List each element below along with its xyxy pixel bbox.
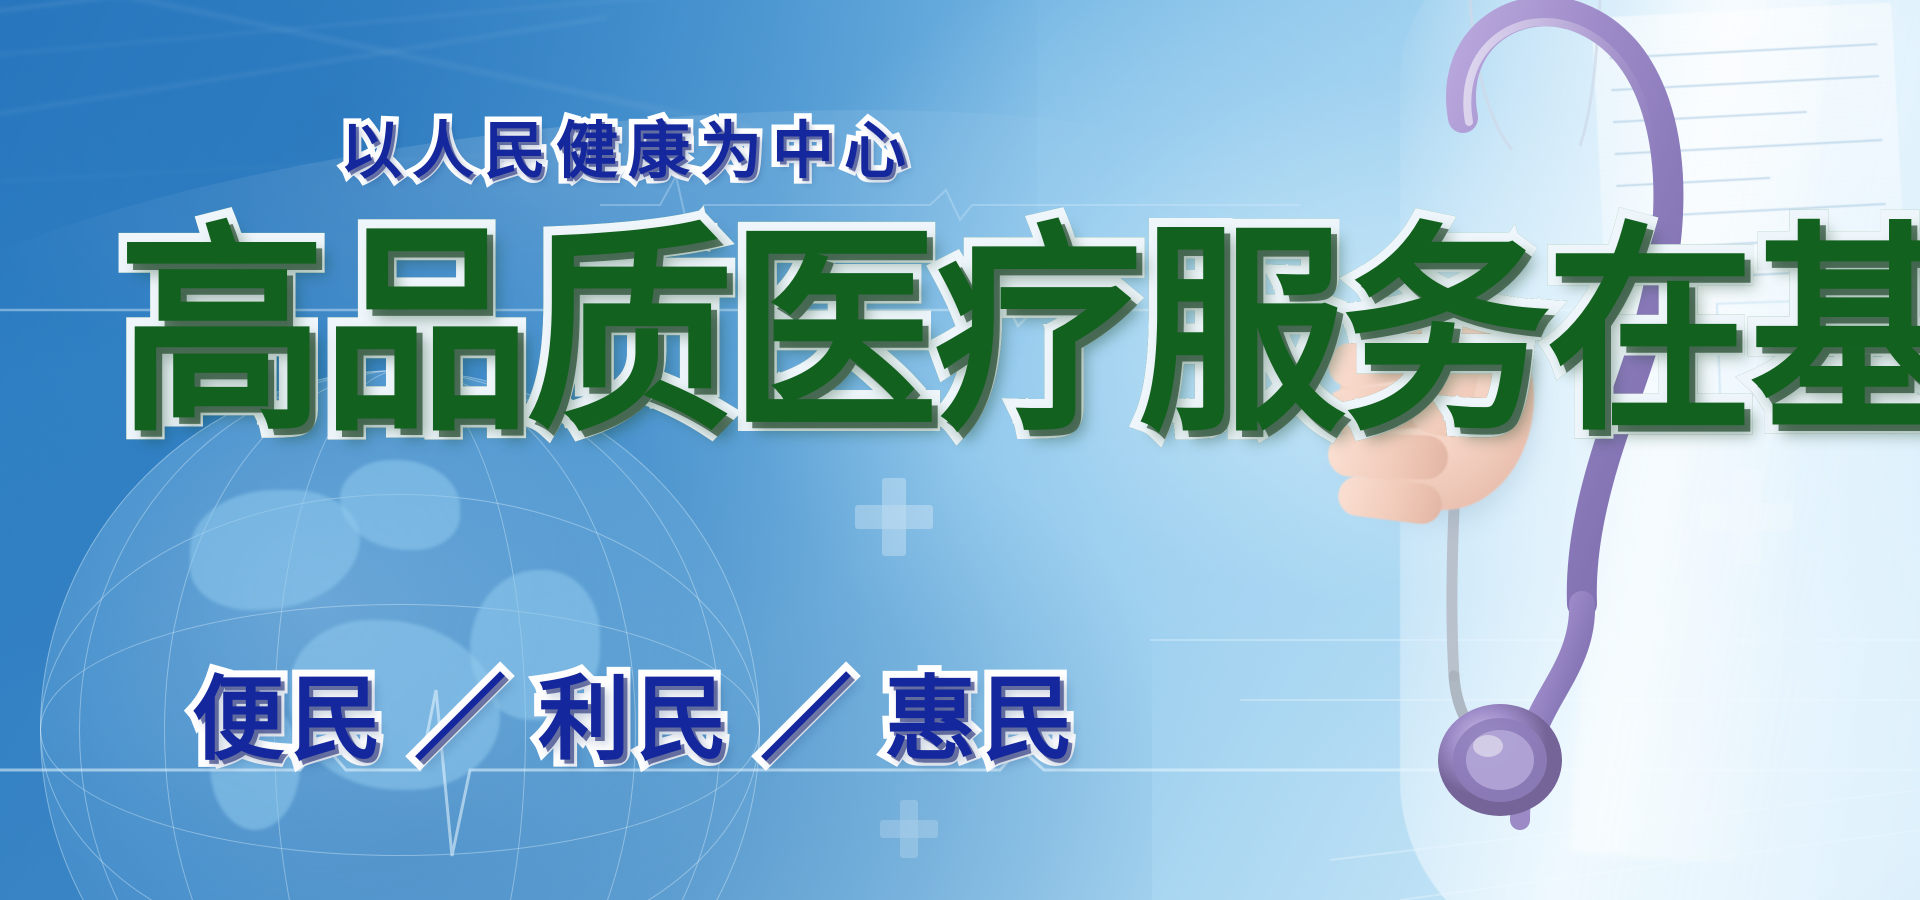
medical-banner: 以人民健康为中心 高品质医疗服务在基层 便民／利民／惠民 — [0, 0, 1920, 900]
page-title: 高品质医疗服务在基层 — [118, 222, 1920, 445]
headline-top: 以人民健康为中心 — [340, 100, 916, 190]
headline-group: 以人民健康为中心 高品质医疗服务在基层 便民／利民／惠民 — [0, 0, 1160, 900]
headline-main-text: 高品质医疗服务在基层 — [118, 204, 1920, 463]
slogan-separator: ／ — [388, 666, 538, 773]
slogan-item-2: 利民 — [538, 666, 734, 773]
headline-bottom: 便民／利民／惠民 — [192, 645, 1080, 778]
slogan-item-1: 便民 — [192, 666, 388, 773]
slogan-item-3: 惠民 — [884, 666, 1080, 773]
slogan-separator: ／ — [734, 666, 884, 773]
